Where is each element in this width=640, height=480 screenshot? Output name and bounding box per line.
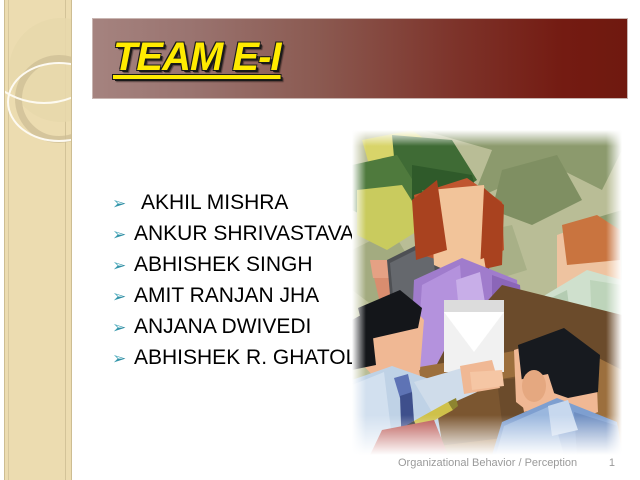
business-meeting-clipart <box>352 130 622 455</box>
arrow-bullet-icon: ➢ <box>112 257 134 274</box>
team-member-name: AKHIL MISHRA <box>134 191 288 215</box>
team-member-name: ABHISHEK R. GHATOLE <box>134 346 371 370</box>
team-member-name: ABHISHEK SINGH <box>134 253 313 277</box>
arrow-bullet-icon: ➢ <box>112 319 134 336</box>
arrow-bullet-icon: ➢ <box>112 226 134 243</box>
arrow-bullet-icon: ➢ <box>112 288 134 305</box>
team-member-name: ANKUR SHRIVASTAVA <box>134 222 354 246</box>
slide-page-number: 1 <box>609 457 624 469</box>
slide-footer: Organizational Behavior / Perception 1 <box>352 457 624 469</box>
team-member-name: ANJANA DWIVEDI <box>134 315 311 339</box>
arrow-bullet-icon: ➢ <box>112 350 134 367</box>
arrow-bullet-icon: ➢ <box>112 195 134 212</box>
title-banner: TEAM E-I <box>92 18 628 99</box>
slide-title: TEAM E-I <box>113 35 281 80</box>
presentation-slide: TEAM E-I ➢ AKHIL MISHRA ➢ ANKUR SHRIVAST… <box>0 0 640 480</box>
sidebar-decoration <box>4 0 72 480</box>
footer-text: Organizational Behavior / Perception <box>352 457 577 469</box>
team-member-name: AMIT RANJAN JHA <box>134 284 319 308</box>
